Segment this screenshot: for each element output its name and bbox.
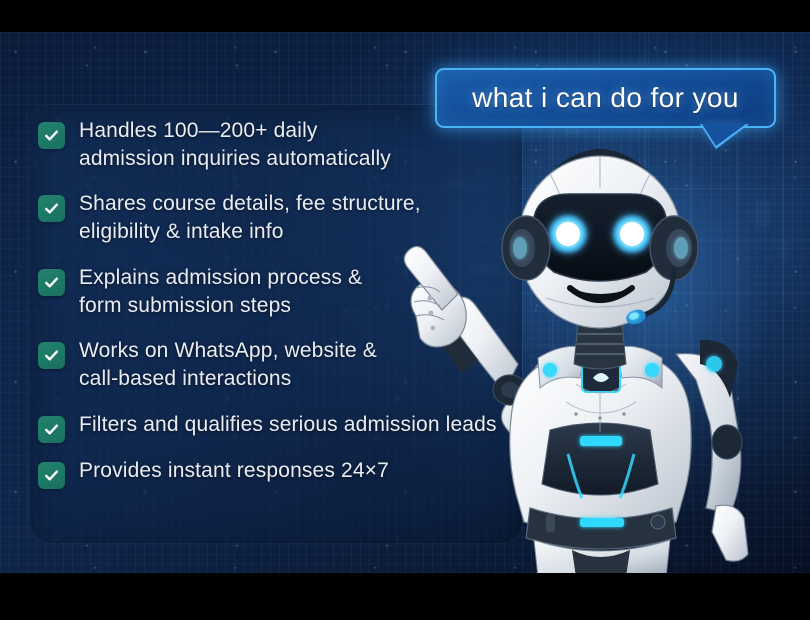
check-icon — [38, 416, 65, 443]
feature-item-instant-responses: Provides instant responses 24×7 — [38, 457, 558, 489]
speech-bubble-tail — [702, 124, 746, 146]
letterbox-bottom — [0, 573, 810, 620]
feature-item-label: Works on WhatsApp, website & call-based … — [79, 337, 377, 392]
image-stage: what i can do for you Handles 100—200+ d… — [0, 0, 810, 620]
check-icon — [38, 195, 65, 222]
speech-bubble-text: what i can do for you — [472, 84, 739, 112]
feature-item-label: Provides instant responses 24×7 — [79, 457, 389, 485]
feature-item-label: Shares course details, fee structure, el… — [79, 190, 421, 245]
artwork-canvas: what i can do for you Handles 100—200+ d… — [0, 32, 810, 573]
check-icon — [38, 462, 65, 489]
feature-item-admission-process: Explains admission process & form submis… — [38, 264, 558, 319]
check-icon — [38, 342, 65, 369]
speech-bubble: what i can do for you — [435, 68, 776, 128]
feature-item-label: Filters and qualifies serious admission … — [79, 411, 497, 439]
feature-item-course-details: Shares course details, fee structure, el… — [38, 190, 558, 245]
check-icon — [38, 269, 65, 296]
robot-neck — [574, 324, 626, 369]
feature-item-lead-qualification: Filters and qualifies serious admission … — [38, 411, 558, 443]
feature-item-label: Explains admission process & form submis… — [79, 264, 362, 319]
feature-list: Handles 100—200+ daily admission inquiri… — [38, 117, 558, 503]
feature-item-label: Handles 100—200+ daily admission inquiri… — [79, 117, 391, 172]
check-icon — [38, 122, 65, 149]
feature-item-channels: Works on WhatsApp, website & call-based … — [38, 337, 558, 392]
letterbox-top — [0, 0, 810, 32]
